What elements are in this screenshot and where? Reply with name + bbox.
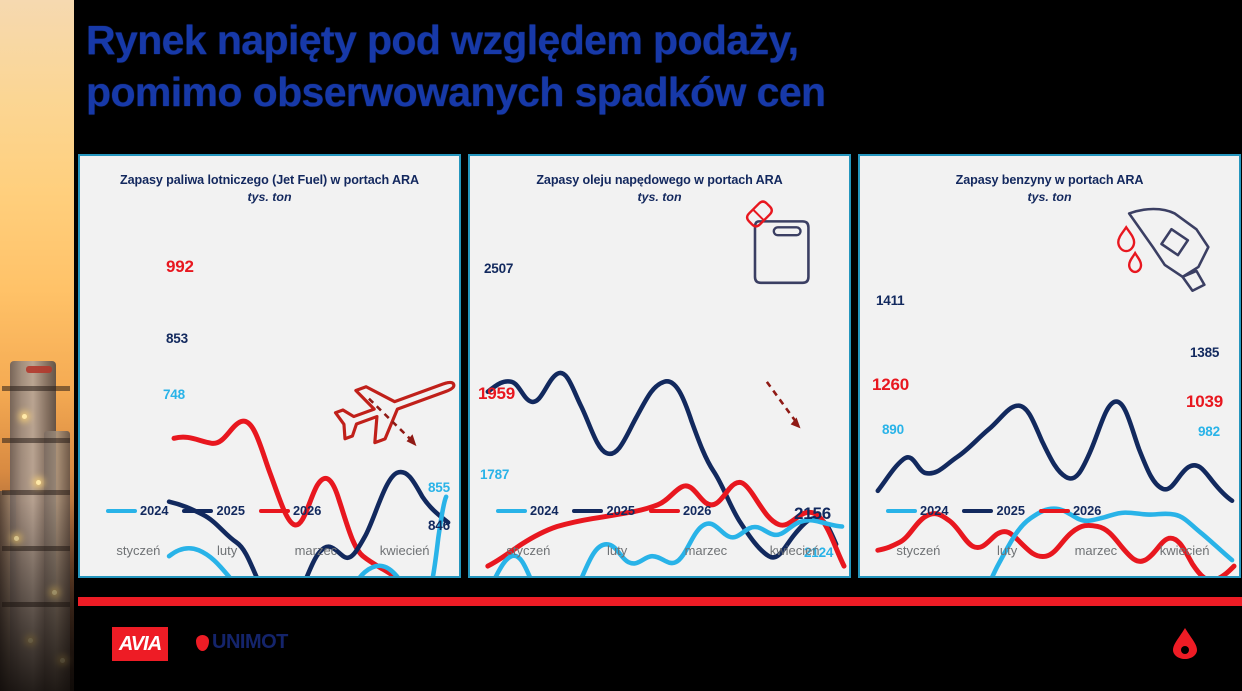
month-label-marzec: marzec	[272, 543, 361, 558]
photo-light	[22, 414, 27, 419]
chart-legend: 2024 2025 2026	[886, 503, 1101, 518]
month-label-styczen: styczeń	[484, 543, 573, 558]
start-label-2026: 992	[166, 257, 194, 277]
month-label-styczen: styczeń	[874, 543, 963, 558]
photo-deck	[2, 438, 70, 443]
legend-item-2025[interactable]: 2025	[572, 503, 634, 518]
month-label-luty: luty	[573, 543, 662, 558]
x-axis-month-labels: styczeń luty marzec kwiecień	[484, 543, 839, 558]
legend-label-2024: 2024	[530, 503, 558, 518]
legend-swatch-2026	[259, 509, 290, 513]
end-label-2025: 1385	[1190, 345, 1219, 360]
legend-item-2024[interactable]: 2024	[886, 503, 948, 518]
start-label-2024: 748	[163, 387, 185, 402]
charts-row: Zapasy paliwa lotniczego (Jet Fuel) w po…	[78, 154, 1242, 578]
unimot-drop-icon	[196, 635, 209, 651]
fuel-drop-icon	[1118, 227, 1141, 272]
start-label-2025: 1411	[876, 293, 905, 308]
month-label-kwiecien: kwiecień	[750, 543, 839, 558]
legend-swatch-2025	[182, 509, 213, 513]
legend-label-2026: 2026	[1073, 503, 1101, 518]
avia-logo: AVIA	[112, 627, 168, 661]
legend-label-2026: 2026	[293, 503, 321, 518]
photo-haze	[0, 501, 74, 691]
avia-logo-text: AVIA	[119, 633, 161, 656]
title-line-2: pomimo obserwowanych spadków cen	[86, 66, 1086, 118]
month-label-marzec: marzec	[662, 543, 751, 558]
start-label-2025: 2507	[484, 261, 513, 276]
photo-deck	[2, 386, 70, 391]
title-line-1: Rynek napięty pod względem podaży,	[86, 17, 798, 63]
legend-label-2025: 2025	[216, 503, 244, 518]
end-label-2024: 982	[1198, 424, 1220, 439]
legend-label-2026: 2026	[683, 503, 711, 518]
fuel-nozzle-icon	[1129, 209, 1208, 291]
start-label-2025: 853	[166, 331, 188, 346]
page-title: Rynek napięty pod względem podaży, pomim…	[86, 14, 1086, 119]
start-label-2026: 1959	[478, 384, 515, 404]
chart-legend: 2024 2025 2026	[106, 503, 321, 518]
legend-swatch-2024	[886, 509, 917, 513]
unimot-logo-text: UNIMOT	[212, 631, 288, 654]
legend-item-2026[interactable]: 2026	[259, 503, 321, 518]
legend-swatch-2026	[649, 509, 680, 513]
month-label-marzec: marzec	[1052, 543, 1141, 558]
month-label-luty: luty	[963, 543, 1052, 558]
refinery-photo	[0, 0, 74, 691]
legend-swatch-2024	[496, 509, 527, 513]
jerrycan-icon	[747, 202, 808, 283]
footer-divider-bar	[78, 597, 1242, 606]
legend-item-2026[interactable]: 2026	[649, 503, 711, 518]
legend-label-2024: 2024	[920, 503, 948, 518]
legend-swatch-2025	[962, 509, 993, 513]
legend-label-2025: 2025	[996, 503, 1024, 518]
slide-root: Rynek napięty pod względem podaży, pomim…	[0, 0, 1242, 691]
airplane-icon	[331, 358, 459, 451]
photo-light	[36, 480, 41, 485]
month-label-kwiecien: kwiecień	[360, 543, 449, 558]
unimot-drop-mark-icon	[1172, 627, 1198, 659]
legend-label-2025: 2025	[606, 503, 634, 518]
chart-legend: 2024 2025 2026	[496, 503, 711, 518]
legend-item-2024[interactable]: 2024	[496, 503, 558, 518]
legend-swatch-2024	[106, 509, 137, 513]
end-label-2024: 855	[428, 480, 450, 495]
photo-deck	[2, 490, 70, 495]
legend-label-2024: 2024	[140, 503, 168, 518]
chart-panel-diesel: Zapasy oleju napędowego w portach ARA ty…	[468, 154, 851, 578]
photo-tower-cap	[26, 366, 52, 373]
legend-swatch-2025	[572, 509, 603, 513]
month-label-kwiecien: kwiecień	[1140, 543, 1229, 558]
end-label-2025: 2156	[794, 504, 831, 524]
legend-item-2024[interactable]: 2024	[106, 503, 168, 518]
chart-panel-gasoline: Zapasy benzyny w portach ARA tys. ton	[858, 154, 1241, 578]
legend-item-2026[interactable]: 2026	[1039, 503, 1101, 518]
start-label-2026: 1260	[872, 375, 909, 395]
start-label-2024: 890	[882, 422, 904, 437]
x-axis-month-labels: styczeń luty marzec kwiecień	[94, 543, 449, 558]
start-label-2024: 1787	[480, 467, 509, 482]
legend-item-2025[interactable]: 2025	[182, 503, 244, 518]
legend-item-2025[interactable]: 2025	[962, 503, 1024, 518]
end-label-2025: 846	[428, 518, 450, 533]
chart-panel-jet-fuel: Zapasy paliwa lotniczego (Jet Fuel) w po…	[78, 154, 461, 578]
series-line-2025	[878, 402, 1232, 501]
unimot-logo: UNIMOT	[196, 631, 288, 654]
x-axis-month-labels: styczeń luty marzec kwiecień	[874, 543, 1229, 558]
month-label-styczen: styczeń	[94, 543, 183, 558]
end-label-2026: 1039	[1186, 392, 1223, 412]
legend-swatch-2026	[1039, 509, 1070, 513]
month-label-luty: luty	[183, 543, 272, 558]
